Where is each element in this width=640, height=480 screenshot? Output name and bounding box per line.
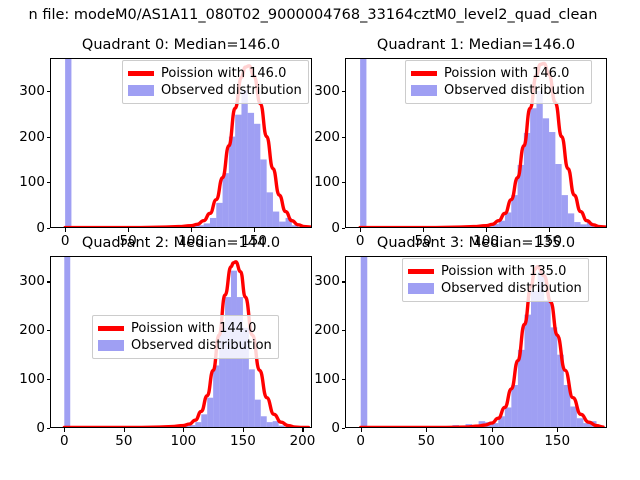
- x-tick-label: 100: [170, 433, 196, 449]
- y-tick-label: 300: [19, 273, 45, 289]
- line-swatch-icon: [98, 326, 124, 330]
- x-tick-label: 150: [544, 433, 570, 449]
- x-tick-mark: [360, 228, 361, 232]
- y-tick-label: 0: [331, 420, 340, 436]
- subplot-quadrant-0: Quadrant 0: Median=146.0 010020030005010…: [50, 58, 312, 228]
- legend-entry-poisson: Poission with 146.0: [128, 65, 302, 82]
- x-tick-label: 50: [115, 433, 132, 449]
- line-swatch-icon: [408, 269, 434, 273]
- legend-label-observed: Observed distribution: [161, 83, 302, 98]
- matplotlib-figure: n file: modeM0/AS1A11_080T02_9000004768_…: [0, 0, 640, 480]
- patch-swatch-icon: [408, 283, 434, 294]
- legend-label-poisson: Poission with 144.0: [131, 321, 256, 336]
- patch-swatch-icon: [98, 340, 124, 351]
- x-tick-mark: [492, 428, 493, 432]
- y-tick-label: 200: [314, 322, 340, 338]
- legend-quadrant-3: Poission with 135.0 Observed distributio…: [402, 258, 589, 302]
- y-tick-mark: [47, 281, 51, 282]
- y-tick-mark: [47, 228, 51, 229]
- legend-entry-poisson: Poission with 135.0: [408, 263, 582, 280]
- x-tick-label: 50: [418, 433, 435, 449]
- x-tick-mark: [243, 428, 244, 432]
- x-tick-mark: [486, 228, 487, 232]
- patch-swatch-icon: [128, 85, 154, 96]
- x-tick-label: 100: [479, 433, 505, 449]
- y-tick-mark: [342, 137, 346, 138]
- legend-entry-poisson: Poission with 144.0: [98, 320, 272, 337]
- subplot-title-quadrant-1: Quadrant 1: Median=146.0: [305, 37, 640, 53]
- figure-suptitle: n file: modeM0/AS1A11_080T02_9000004768_…: [0, 4, 640, 26]
- x-tick-label: 150: [230, 433, 256, 449]
- y-tick-mark: [47, 91, 51, 92]
- y-tick-mark: [47, 137, 51, 138]
- subplot-quadrant-1: Quadrant 1: Median=146.0 010020030005010…: [345, 58, 607, 228]
- legend-entry-observed: Observed distribution: [128, 82, 302, 99]
- legend-label-poisson: Poission with 146.0: [161, 66, 286, 81]
- figure-suptitle-text: n file: modeM0/AS1A11_080T02_9000004768_…: [29, 4, 598, 26]
- x-tick-label: 0: [356, 433, 365, 449]
- y-tick-label: 300: [314, 273, 340, 289]
- y-tick-mark: [47, 379, 51, 380]
- y-tick-label: 100: [19, 174, 45, 190]
- x-tick-mark: [191, 228, 192, 232]
- x-tick-mark: [423, 228, 424, 232]
- legend-entry-poisson: Poission with 146.0: [411, 65, 585, 82]
- x-tick-mark: [549, 228, 550, 232]
- subplot-title-quadrant-3: Quadrant 3: Median=135.0: [305, 235, 640, 251]
- y-tick-label: 200: [314, 129, 340, 145]
- legend-entry-observed: Observed distribution: [408, 280, 582, 297]
- x-tick-mark: [124, 428, 125, 432]
- y-tick-mark: [47, 182, 51, 183]
- x-tick-mark: [128, 228, 129, 232]
- y-tick-label: 100: [314, 174, 340, 190]
- y-tick-label: 100: [19, 371, 45, 387]
- x-tick-mark: [183, 428, 184, 432]
- y-tick-label: 100: [314, 371, 340, 387]
- x-tick-mark: [361, 428, 362, 432]
- y-tick-mark: [342, 428, 346, 429]
- y-tick-label: 0: [36, 420, 45, 436]
- x-tick-mark: [64, 428, 65, 432]
- y-tick-mark: [47, 428, 51, 429]
- subplot-quadrant-2: Quadrant 2: Median=144.0 010020030005010…: [50, 256, 312, 428]
- y-tick-label: 300: [314, 83, 340, 99]
- x-tick-mark: [65, 228, 66, 232]
- legend-entry-observed: Observed distribution: [411, 82, 585, 99]
- y-tick-mark: [342, 330, 346, 331]
- y-tick-mark: [342, 228, 346, 229]
- x-tick-mark: [254, 228, 255, 232]
- y-tick-label: 300: [19, 83, 45, 99]
- y-tick-mark: [342, 379, 346, 380]
- legend-label-poisson: Poission with 146.0: [444, 66, 569, 81]
- y-tick-mark: [342, 281, 346, 282]
- y-tick-label: 200: [19, 322, 45, 338]
- legend-quadrant-2: Poission with 144.0 Observed distributio…: [92, 315, 279, 359]
- y-tick-label: 200: [19, 129, 45, 145]
- legend-entry-observed: Observed distribution: [98, 337, 272, 354]
- legend-label-observed: Observed distribution: [441, 281, 582, 296]
- line-swatch-icon: [128, 71, 154, 75]
- legend-quadrant-0: Poission with 146.0 Observed distributio…: [122, 60, 309, 104]
- legend-label-observed: Observed distribution: [131, 338, 272, 353]
- subplot-quadrant-3: Quadrant 3: Median=135.0 010020030005010…: [345, 256, 607, 428]
- x-tick-mark: [557, 428, 558, 432]
- legend-label-observed: Observed distribution: [444, 83, 585, 98]
- y-tick-mark: [342, 182, 346, 183]
- x-tick-mark: [302, 428, 303, 432]
- y-tick-mark: [342, 91, 346, 92]
- y-tick-label: 0: [36, 220, 45, 236]
- x-tick-label: 200: [290, 433, 316, 449]
- y-tick-label: 0: [331, 220, 340, 236]
- x-tick-mark: [426, 428, 427, 432]
- x-tick-label: 0: [60, 433, 69, 449]
- subplot-title-quadrant-2: Quadrant 2: Median=144.0: [10, 235, 352, 251]
- patch-swatch-icon: [411, 85, 437, 96]
- y-tick-mark: [47, 330, 51, 331]
- line-swatch-icon: [411, 71, 437, 75]
- subplot-title-quadrant-0: Quadrant 0: Median=146.0: [10, 37, 352, 53]
- legend-label-poisson: Poission with 135.0: [441, 264, 566, 279]
- legend-quadrant-1: Poission with 146.0 Observed distributio…: [405, 60, 592, 104]
